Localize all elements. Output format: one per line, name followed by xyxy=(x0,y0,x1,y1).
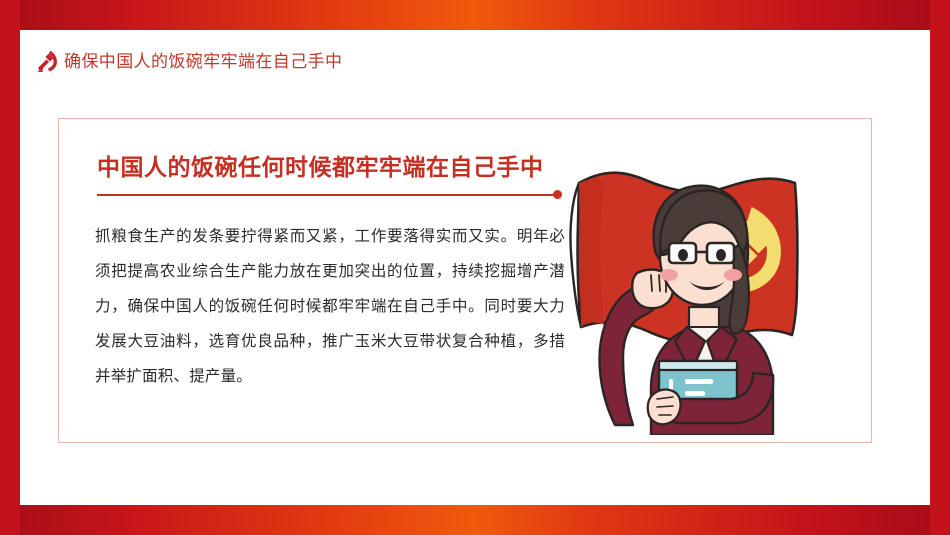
top-gradient-bar xyxy=(0,0,950,30)
bottom-gradient-bar xyxy=(0,505,950,535)
eye-left xyxy=(678,249,688,261)
slide-canvas: 确保中国人的饭碗牢牢端在自己手中 中国人的饭碗任何时候都牢牢端在自己手中 抓粮食… xyxy=(0,0,950,535)
blush-right xyxy=(724,269,742,281)
left-red-bar xyxy=(0,0,20,535)
woman-raising-fist-with-party-flag-illustration xyxy=(559,135,849,435)
content-card: 中国人的饭碗任何时候都牢牢端在自己手中 抓粮食生产的发条要拧得紧而又紧，工作要落… xyxy=(58,118,872,443)
slide-header: 确保中国人的饭碗牢牢端在自己手中 xyxy=(34,47,342,75)
right-red-bar xyxy=(930,0,950,535)
hand xyxy=(648,390,681,425)
header-title: 确保中国人的饭碗牢牢端在自己手中 xyxy=(64,53,342,70)
content-body-text: 抓粮食生产的发条要拧得紧而又紧，工作要落得实而又实。明年必须把提高农业综合生产能… xyxy=(95,219,565,394)
content-title: 中国人的饭碗任何时候都牢牢端在自己手中 xyxy=(97,156,544,179)
title-underline xyxy=(97,194,555,196)
eye-right xyxy=(716,249,726,261)
blush-left xyxy=(660,269,678,281)
hammer-and-sickle-icon xyxy=(34,48,60,74)
